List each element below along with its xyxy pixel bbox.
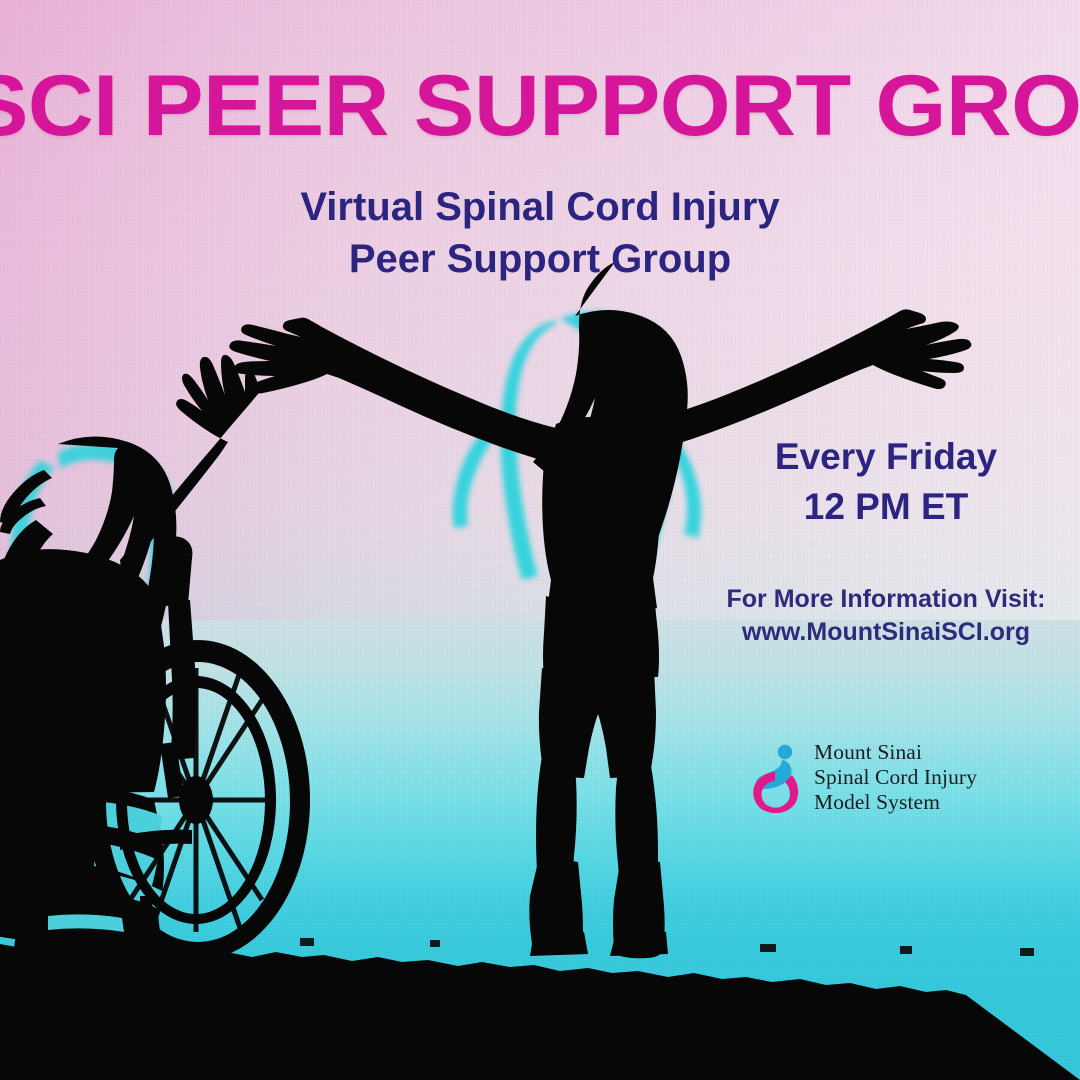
mount-sinai-sci-logo-text: Mount Sinai Spinal Cord Injury Model Sys… xyxy=(814,740,977,815)
logo-text-line-1: Mount Sinai xyxy=(814,740,977,765)
subtitle-line-1: Virtual Spinal Cord Injury xyxy=(0,181,1080,233)
schedule-time: 12 PM ET xyxy=(700,482,1072,532)
mount-sinai-sci-logo-mark-icon xyxy=(752,741,804,813)
schedule-day: Every Friday xyxy=(700,432,1072,482)
subtitle-block: Virtual Spinal Cord Injury Peer Support … xyxy=(0,181,1080,285)
schedule-block: Every Friday 12 PM ET xyxy=(700,432,1072,532)
page-title: SCI PEER SUPPORT GROUP xyxy=(0,63,1080,149)
mount-sinai-sci-logo: Mount Sinai Spinal Cord Injury Model Sys… xyxy=(752,737,1012,817)
logo-text-line-3: Model System xyxy=(814,790,977,815)
more-information-block: For More Information Visit: www.MountSin… xyxy=(700,583,1072,649)
logo-text-line-2: Spinal Cord Injury xyxy=(814,765,977,790)
flyer-canvas: SCI PEER SUPPORT GROUP Virtual Spinal Co… xyxy=(0,0,1080,1080)
more-info-label: For More Information Visit: xyxy=(700,583,1072,616)
subtitle-line-2: Peer Support Group xyxy=(0,233,1080,285)
website-url[interactable]: www.MountSinaiSCI.org xyxy=(700,616,1072,649)
ground-horizon-silhouette xyxy=(0,942,1080,1080)
silhouette-artwork xyxy=(0,0,1080,1080)
